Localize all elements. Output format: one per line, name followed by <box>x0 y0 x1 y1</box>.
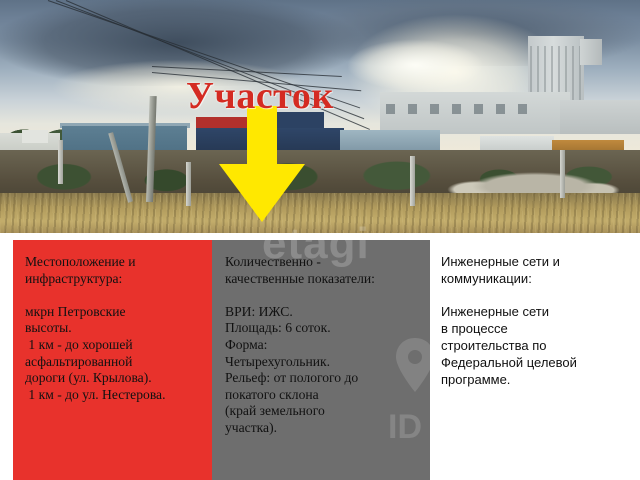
boundary-post-2 <box>410 156 415 206</box>
industrial-tower-cap <box>580 39 602 65</box>
boundary-post-3 <box>560 150 565 198</box>
dry-grass-texture <box>0 193 640 233</box>
info-panels: Местоположение и инфраструктура: мкрн Пе… <box>13 240 627 480</box>
panel-location: Местоположение и инфраструктура: мкрн Пе… <box>13 240 212 480</box>
panel-metrics-body: ВРИ: ИЖС. Площадь: 6 соток. Форма: Четыр… <box>225 287 420 436</box>
photo-overlay-title: Участок <box>186 74 334 118</box>
panel-utilities-body: Инженерные сети в процессе строительства… <box>441 288 619 389</box>
listing-slide: Участок Местоположение и инфраструктура:… <box>0 0 640 480</box>
panel-utilities-heading: Инженерные сети и коммуникации: <box>441 254 619 288</box>
panel-utilities: Инженерные сети и коммуникации: Инженерн… <box>430 240 627 480</box>
industrial-building-right <box>560 100 640 134</box>
down-arrow-marker <box>205 106 319 224</box>
panel-location-body: мкрн Петровские высоты. 1 км - до хороше… <box>25 287 202 403</box>
panel-location-heading: Местоположение и инфраструктура: <box>25 254 202 287</box>
boundary-post-1 <box>186 162 191 206</box>
panel-metrics: Количественно - качественные показатели:… <box>212 240 430 480</box>
industrial-building-windows <box>386 104 536 114</box>
boundary-post-4 <box>58 140 63 184</box>
panel-metrics-heading: Количественно - качественные показатели: <box>225 254 420 287</box>
